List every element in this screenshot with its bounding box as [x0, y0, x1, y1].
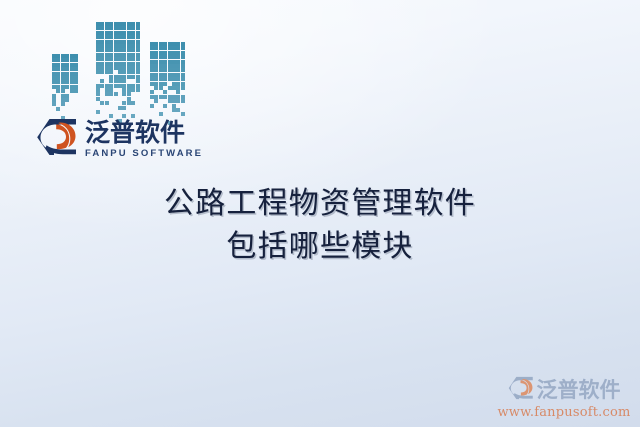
skyline-dot [100, 48, 104, 52]
skyline-dot [154, 64, 158, 68]
skyline-dot [96, 70, 100, 74]
skyline-dot [181, 46, 185, 50]
skyline-dot [61, 89, 65, 93]
skyline-dot [168, 86, 172, 90]
skyline-dot [163, 46, 167, 50]
skyline-dot [109, 75, 113, 79]
skyline-dot [52, 98, 56, 102]
skyline-tower-left [52, 54, 78, 120]
skyline-dot [181, 112, 185, 116]
skyline-dot [172, 82, 176, 86]
skyline-dot [56, 76, 60, 80]
skyline-dot [176, 86, 180, 90]
skyline-dot [118, 48, 122, 52]
fanpu-watermark-icon [508, 376, 534, 405]
skyline-dot [114, 79, 118, 83]
skyline-dot [65, 58, 69, 62]
skyline-dot [74, 76, 78, 80]
skyline-dot [100, 79, 104, 83]
skyline-dot [100, 66, 104, 70]
skyline-dot [122, 84, 126, 88]
skyline-dot [52, 76, 56, 80]
skyline-dot [74, 72, 78, 76]
dotted-skyline-graphic [52, 22, 192, 120]
skyline-dot [56, 54, 60, 58]
skyline-dot [154, 55, 158, 59]
skyline-dot [150, 51, 154, 55]
skyline-dot [154, 68, 158, 72]
skyline-dot [127, 88, 131, 92]
skyline-dot [100, 70, 104, 74]
skyline-dot [118, 84, 122, 88]
watermark-name-cn: 泛普软件 [537, 380, 621, 401]
skyline-dot [105, 53, 109, 57]
skyline-dot [100, 101, 104, 105]
skyline-dot [74, 80, 78, 84]
skyline-dot [109, 92, 113, 96]
skyline-dot [181, 82, 185, 86]
skyline-dot [150, 82, 154, 86]
skyline-dot [70, 89, 74, 93]
skyline-dot [100, 62, 104, 66]
skyline-dot [105, 88, 109, 92]
skyline-dot [61, 98, 65, 102]
skyline-dot [122, 70, 126, 74]
skyline-dot [131, 48, 135, 52]
skyline-dot [131, 22, 135, 26]
skyline-dot [131, 53, 135, 57]
skyline-dot [127, 66, 131, 70]
brand-text-block: 泛普软件 FANPU SOFTWARE [85, 120, 203, 159]
skyline-dot [168, 73, 172, 77]
skyline-dot [109, 48, 113, 52]
skyline-dot [114, 26, 118, 30]
skyline-dot [109, 31, 113, 35]
skyline-dot [154, 60, 158, 64]
skyline-dot [56, 63, 60, 67]
skyline-dot [159, 55, 163, 59]
skyline-dot [96, 35, 100, 39]
skyline-dot [122, 62, 126, 66]
skyline-dot [100, 44, 104, 48]
skyline-dot [154, 86, 158, 90]
skyline-dot [163, 64, 167, 68]
skyline-dot [163, 55, 167, 59]
skyline-dot [105, 31, 109, 35]
skyline-dot [56, 67, 60, 71]
skyline-dot [114, 40, 118, 44]
skyline-tower-mid [96, 22, 138, 120]
skyline-dot [172, 108, 176, 112]
skyline-dot [159, 46, 163, 50]
skyline-dot [105, 62, 109, 66]
skyline-dot [109, 22, 113, 26]
skyline-dot [100, 57, 104, 61]
skyline-tower-right [150, 42, 182, 120]
skyline-dot [136, 70, 140, 74]
skyline-dot [65, 63, 69, 67]
skyline-dot [65, 76, 69, 80]
skyline-dot [61, 58, 65, 62]
skyline-dot [109, 70, 113, 74]
skyline-dot [159, 68, 163, 72]
skyline-dot [122, 66, 126, 70]
skyline-dot [136, 88, 140, 92]
skyline-dot [65, 98, 69, 102]
skyline-dot [105, 101, 109, 105]
skyline-dot [114, 53, 118, 57]
skyline-dot [127, 40, 131, 44]
skyline-dot [163, 90, 167, 94]
skyline-dot [163, 73, 167, 77]
skyline-dot [65, 94, 69, 98]
skyline-dot [114, 62, 118, 66]
page-title-line-2: 包括哪些模块 [0, 225, 640, 268]
skyline-dot [109, 79, 113, 83]
skyline-dot [168, 99, 172, 103]
skyline-dot [56, 58, 60, 62]
skyline-dot [136, 40, 140, 44]
skyline-dot [163, 104, 167, 108]
skyline-dot [150, 77, 154, 81]
skyline-dot [176, 51, 180, 55]
skyline-dot [105, 92, 109, 96]
skyline-dot [114, 84, 118, 88]
skyline-dot [65, 67, 69, 71]
skyline-dot [61, 80, 65, 84]
page-title-line-1: 公路工程物资管理软件 [0, 182, 640, 225]
skyline-dot [131, 88, 135, 92]
skyline-dot [122, 53, 126, 57]
skyline-dot [172, 64, 176, 68]
watermark-url: www.fanpusoft.com [496, 406, 632, 419]
skyline-dot [127, 101, 131, 105]
skyline-dot [96, 66, 100, 70]
skyline-dot [65, 85, 69, 89]
skyline-dot [176, 77, 180, 81]
skyline-dot [96, 92, 100, 96]
skyline-dot [74, 54, 78, 58]
skyline-dot [52, 54, 56, 58]
skyline-dot [150, 73, 154, 77]
skyline-dot [136, 31, 140, 35]
skyline-dot [154, 82, 158, 86]
skyline-dot [100, 53, 104, 57]
skyline-dot [109, 84, 113, 88]
skyline-dot [105, 57, 109, 61]
skyline-dot [74, 67, 78, 71]
skyline-dot [150, 60, 154, 64]
skyline-dot [159, 51, 163, 55]
skyline-dot [96, 88, 100, 92]
skyline-dot [105, 48, 109, 52]
brand-name-en: FANPU SOFTWARE [85, 149, 203, 159]
skyline-dot [131, 57, 135, 61]
skyline-dot [127, 70, 131, 74]
skyline-dot [159, 82, 163, 86]
skyline-dot [181, 64, 185, 68]
skyline-dot [136, 79, 140, 83]
skyline-dot [150, 90, 154, 94]
skyline-dot [122, 88, 126, 92]
skyline-dot [109, 40, 113, 44]
skyline-dot [172, 99, 176, 103]
skyline-dot [56, 89, 60, 93]
skyline-dot [136, 44, 140, 48]
skyline-dot [154, 77, 158, 81]
skyline-dot [52, 80, 56, 84]
skyline-dot [168, 64, 172, 68]
skyline-dot [150, 104, 154, 108]
skyline-dot [150, 55, 154, 59]
skyline-dot [131, 40, 135, 44]
skyline-dot [159, 42, 163, 46]
skyline-dot [52, 102, 56, 106]
skyline-dot [105, 26, 109, 30]
skyline-dot [61, 85, 65, 89]
skyline-dot [65, 54, 69, 58]
skyline-dot [109, 53, 113, 57]
skyline-dot [122, 79, 126, 83]
skyline-dot [181, 77, 185, 81]
skyline-dot [163, 68, 167, 72]
skyline-dot [127, 35, 131, 39]
skyline-dot [118, 31, 122, 35]
skyline-dot [96, 62, 100, 66]
skyline-dot [74, 58, 78, 62]
skyline-dot [172, 51, 176, 55]
skyline-dot [122, 22, 126, 26]
skyline-dot [122, 44, 126, 48]
skyline-dot [176, 73, 180, 77]
skyline-dot [181, 51, 185, 55]
skyline-dot [118, 53, 122, 57]
skyline-dot [96, 53, 100, 57]
skyline-dot [181, 42, 185, 46]
skyline-dot [154, 51, 158, 55]
skyline-dot [61, 102, 65, 106]
skyline-dot [70, 85, 74, 89]
skyline-dot [131, 44, 135, 48]
skyline-dot [61, 72, 65, 76]
skyline-dot [172, 60, 176, 64]
skyline-dot [150, 46, 154, 50]
skyline-dot [74, 63, 78, 67]
skyline-dot [100, 22, 104, 26]
skyline-dot [52, 94, 56, 98]
skyline-dot [131, 62, 135, 66]
skyline-dot [163, 51, 167, 55]
skyline-dot [118, 62, 122, 66]
skyline-dot [114, 22, 118, 26]
skyline-dot [136, 22, 140, 26]
skyline-dot [176, 42, 180, 46]
skyline-dot [131, 35, 135, 39]
skyline-dot [136, 62, 140, 66]
skyline-dot [109, 66, 113, 70]
skyline-dot [118, 70, 122, 74]
skyline-dot [109, 35, 113, 39]
skyline-dot [118, 66, 122, 70]
skyline-dot [172, 104, 176, 108]
skyline-dot [70, 67, 74, 71]
skyline-dot [154, 73, 158, 77]
skyline-dot [118, 22, 122, 26]
skyline-dot [181, 73, 185, 77]
brand-logo: 泛普软件 FANPU SOFTWARE [36, 118, 203, 161]
skyline-dot [96, 31, 100, 35]
skyline-dot [114, 75, 118, 79]
skyline-dot [122, 48, 126, 52]
skyline-dot [136, 35, 140, 39]
skyline-dot [176, 82, 180, 86]
skyline-dot [52, 58, 56, 62]
skyline-dot [163, 60, 167, 64]
skyline-dot [122, 101, 126, 105]
skyline-dot [181, 55, 185, 59]
skyline-dot [122, 92, 126, 96]
skyline-dot [163, 82, 167, 86]
skyline-dot [181, 86, 185, 90]
skyline-dot [172, 46, 176, 50]
skyline-dot [168, 46, 172, 50]
skyline-dot [52, 85, 56, 89]
skyline-dot [172, 86, 176, 90]
skyline-dot [136, 66, 140, 70]
skyline-dot [131, 75, 135, 79]
skyline-dot [118, 26, 122, 30]
skyline-dot [105, 44, 109, 48]
skyline-dot [109, 26, 113, 30]
skyline-dot [150, 68, 154, 72]
skyline-dot [163, 77, 167, 81]
slide-canvas: 泛普软件 FANPU SOFTWARE 公路工程物资管理软件 包括哪些模块 泛普… [0, 0, 640, 427]
skyline-dot [96, 84, 100, 88]
page-title: 公路工程物资管理软件 包括哪些模块 [0, 182, 640, 268]
skyline-dot [172, 42, 176, 46]
skyline-dot [114, 35, 118, 39]
skyline-dot [168, 77, 172, 81]
skyline-dot [159, 64, 163, 68]
skyline-dot [100, 26, 104, 30]
skyline-dot [118, 75, 122, 79]
skyline-dot [96, 26, 100, 30]
skyline-dot [122, 106, 126, 110]
skyline-dot [172, 95, 176, 99]
skyline-dot [172, 68, 176, 72]
skyline-dot [52, 63, 56, 67]
skyline-dot [52, 72, 56, 76]
skyline-dot [114, 48, 118, 52]
skyline-dot [181, 99, 185, 103]
skyline-dot [96, 40, 100, 44]
skyline-dot [70, 63, 74, 67]
skyline-dot [114, 31, 118, 35]
skyline-dot [136, 48, 140, 52]
skyline-dot [176, 108, 180, 112]
skyline-dot [176, 68, 180, 72]
skyline-dot [105, 40, 109, 44]
skyline-dot [159, 86, 163, 90]
skyline-dot [172, 73, 176, 77]
skyline-dot [181, 60, 185, 64]
skyline-dot [127, 75, 131, 79]
skyline-dot [176, 95, 180, 99]
skyline-dot [127, 22, 131, 26]
skyline-dot [61, 94, 65, 98]
skyline-dot [105, 66, 109, 70]
skyline-dot [65, 80, 69, 84]
skyline-dot [127, 26, 131, 30]
skyline-dot [131, 26, 135, 30]
skyline-dot [56, 107, 60, 111]
skyline-dot [56, 72, 60, 76]
skyline-dot [131, 66, 135, 70]
skyline-dot [118, 35, 122, 39]
skyline-dot [154, 42, 158, 46]
skyline-dot [127, 53, 131, 57]
skyline-dot [127, 92, 131, 96]
skyline-dot [181, 68, 185, 72]
skyline-dot [168, 95, 172, 99]
skyline-dot [127, 44, 131, 48]
skyline-dot [109, 44, 113, 48]
skyline-dot [150, 42, 154, 46]
skyline-dot [154, 95, 158, 99]
skyline-dot [70, 58, 74, 62]
skyline-dot [118, 40, 122, 44]
skyline-dot [127, 31, 131, 35]
skyline-dot [163, 42, 167, 46]
skyline-dot [176, 90, 180, 94]
brand-name-cn: 泛普软件 [85, 120, 203, 146]
skyline-dot [70, 80, 74, 84]
skyline-dot [105, 84, 109, 88]
skyline-dot [114, 92, 118, 96]
skyline-dot [118, 44, 122, 48]
skyline-dot [176, 99, 180, 103]
skyline-dot [131, 101, 135, 105]
skyline-dot [74, 85, 78, 89]
skyline-dot [105, 70, 109, 74]
skyline-dot [122, 35, 126, 39]
skyline-dot [131, 70, 135, 74]
fanpu-logo-icon [36, 118, 78, 161]
skyline-dot [150, 95, 154, 99]
skyline-dot [100, 84, 104, 88]
skyline-dot [159, 73, 163, 77]
skyline-dot [114, 57, 118, 61]
skyline-dot [136, 75, 140, 79]
skyline-dot [181, 95, 185, 99]
skyline-dot [96, 44, 100, 48]
skyline-dot [131, 31, 135, 35]
skyline-dot [168, 42, 172, 46]
skyline-dot [127, 57, 131, 61]
skyline-dot [100, 35, 104, 39]
skyline-dot [159, 112, 163, 116]
skyline-dot [109, 88, 113, 92]
skyline-dot [176, 46, 180, 50]
skyline-dot [61, 63, 65, 67]
skyline-dot [56, 80, 60, 84]
skyline-dot [127, 97, 131, 101]
skyline-dot [96, 57, 100, 61]
skyline-dot [118, 106, 122, 110]
skyline-dot [61, 76, 65, 80]
skyline-dot [100, 40, 104, 44]
skyline-dot [118, 57, 122, 61]
